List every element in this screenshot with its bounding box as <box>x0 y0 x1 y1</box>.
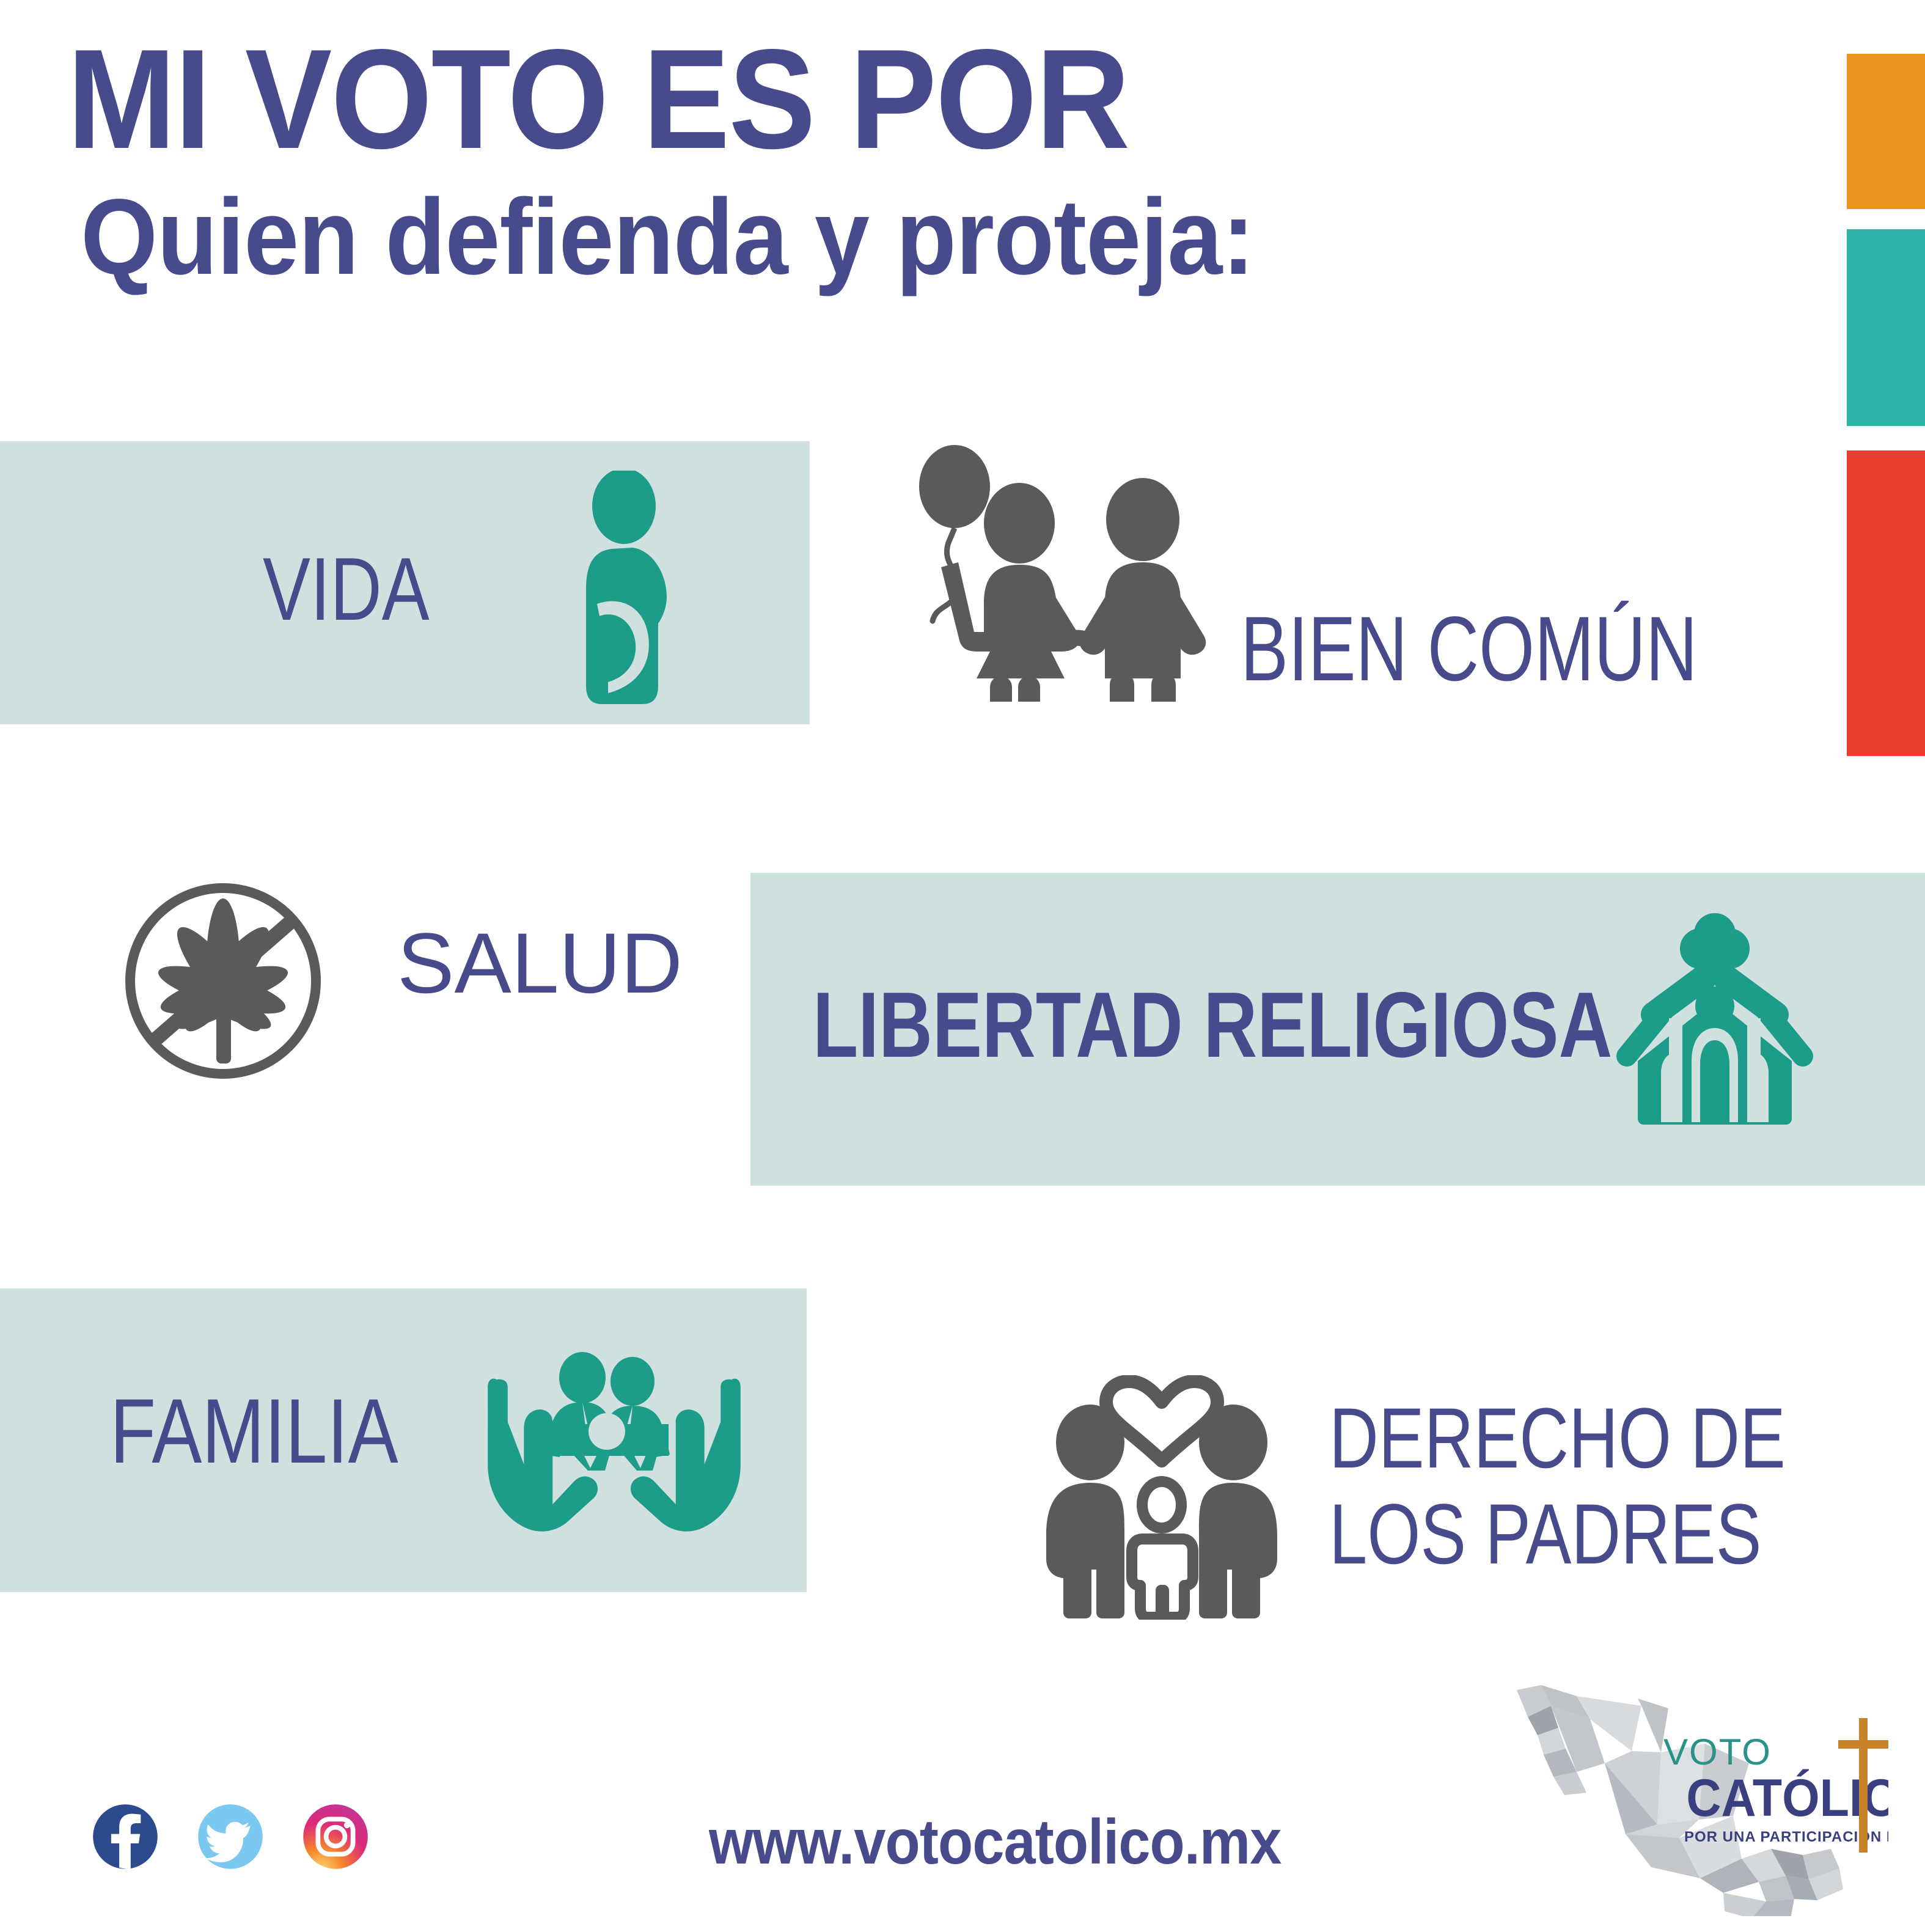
pregnant-woman-icon <box>522 471 718 709</box>
logo-word-top: VOTO <box>1663 1732 1772 1772</box>
derecho-padres-line2: LOS PADRES <box>1329 1486 1786 1582</box>
church-icon <box>1611 898 1837 1143</box>
hands-family-icon <box>483 1351 746 1552</box>
instagram-icon[interactable] <box>302 1803 369 1870</box>
orange-bar <box>1847 54 1925 209</box>
no-cannabis-icon <box>116 874 330 1088</box>
derecho-padres-line1: DERECHO DE <box>1329 1390 1786 1486</box>
voto-catolico-logo: VOTO CATÓLICO POR UNA PARTICIPACIÓN RAZO… <box>1485 1672 1888 1916</box>
libertad-religiosa-label: LIBERTAD RELIGIOSA <box>813 972 1612 1079</box>
children-holding-hands-icon <box>898 445 1241 702</box>
logo-word-main: CATÓLICO <box>1686 1768 1888 1827</box>
page-title: MI VOTO ES POR Quien defienda y proteja: <box>67 31 1797 295</box>
social-links <box>92 1803 369 1870</box>
teal-bar <box>1847 229 1925 426</box>
twitter-icon[interactable] <box>197 1803 264 1870</box>
derecho-padres-label: DERECHO DE LOS PADRES <box>1329 1390 1786 1582</box>
bien-comun-label: BIEN COMÚN <box>1241 596 1698 702</box>
familia-label: FAMILIA <box>110 1378 398 1484</box>
title-line-1: MI VOTO ES POR <box>67 31 1659 168</box>
red-bar <box>1847 450 1925 756</box>
website-url[interactable]: www.votocatolico.mx <box>709 1806 1281 1879</box>
parents-child-heart-icon <box>1043 1375 1281 1620</box>
facebook-icon[interactable] <box>92 1803 159 1870</box>
logo-tagline: POR UNA PARTICIPACIÓN RAZONADA <box>1684 1828 1888 1845</box>
title-line-2: Quien defienda y proteja: <box>67 168 1659 295</box>
salud-label: SALUD <box>397 914 683 1013</box>
vida-label: VIDA <box>263 538 430 641</box>
